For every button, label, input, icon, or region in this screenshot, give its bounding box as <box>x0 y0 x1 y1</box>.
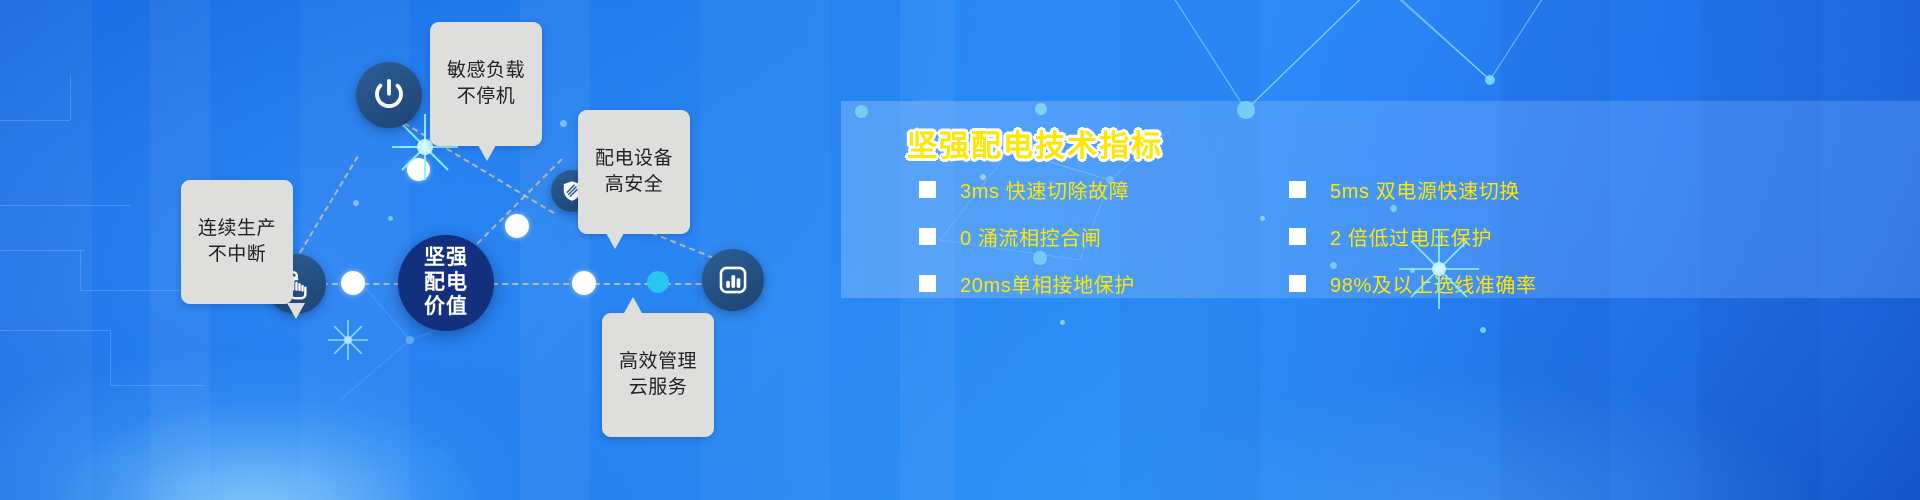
spec-text: 3ms 快速切除故障 <box>960 175 1129 204</box>
spec-list: 3ms 快速切除故障 5ms 双电源快速切换 0 涌流相控合闸 2 倍低过电压保… <box>919 175 1879 298</box>
diagram-junction-dot <box>647 271 669 293</box>
square-bullet-icon <box>1289 228 1306 245</box>
bubble-text: 敏感负载 不停机 <box>447 60 525 106</box>
bubble-continuous-production[interactable]: 连续生产 不中断 <box>181 180 293 304</box>
bubble-text: 连续生产 不中断 <box>198 218 276 264</box>
square-bullet-icon <box>919 181 936 198</box>
spec-item[interactable]: 20ms单相接地保护 <box>919 269 1289 298</box>
bubble-tail <box>287 303 305 319</box>
spec-text: 98%及以上选线准确率 <box>1330 269 1537 298</box>
panel-title: 坚强配电技术指标 <box>907 121 1163 165</box>
bubble-equipment-safety[interactable]: 配电设备 高安全 <box>578 110 690 234</box>
square-bullet-icon <box>919 228 936 245</box>
node-center-value: 坚强 配电 价值 <box>398 235 494 331</box>
bubble-tail <box>606 233 624 249</box>
tech-spec-panel: 坚强配电技术指标 3ms 快速切除故障 5ms 双电源快速切换 0 涌流相控合闸… <box>841 101 1920 298</box>
bubble-tail <box>624 297 642 313</box>
node-power-icon[interactable] <box>356 62 422 128</box>
bubble-cloud-service[interactable]: 高效管理 云服务 <box>602 313 714 437</box>
spec-item[interactable]: 0 涌流相控合闸 <box>919 222 1289 251</box>
diagram-edge <box>294 156 359 262</box>
center-label-line2: 配电 <box>424 271 468 296</box>
spec-item[interactable]: 2 倍低过电压保护 <box>1289 222 1659 251</box>
diagram-junction-dot <box>341 271 365 295</box>
bubble-text: 高效管理 云服务 <box>619 351 697 397</box>
diagram-junction-dot <box>572 271 596 295</box>
bubble-tail <box>478 145 496 161</box>
center-label-line1: 坚强 <box>424 246 468 271</box>
banner-stage: 坚强 配电 价值 敏感负载 不停机 配电设备 高安全 连续生产 不中断 高效管理… <box>0 0 1920 500</box>
diagram-edge <box>492 283 732 285</box>
bar-chart-icon <box>716 263 750 297</box>
center-label-line3: 价值 <box>424 295 468 320</box>
value-network-diagram: 坚强 配电 价值 敏感负载 不停机 配电设备 高安全 连续生产 不中断 高效管理… <box>0 0 840 500</box>
spec-text: 0 涌流相控合闸 <box>960 222 1101 251</box>
spec-item[interactable]: 5ms 双电源快速切换 <box>1289 175 1659 204</box>
bubble-text: 配电设备 高安全 <box>595 148 673 194</box>
diagram-junction-dot <box>407 158 430 181</box>
spec-text: 2 倍低过电压保护 <box>1330 222 1492 251</box>
square-bullet-icon <box>919 275 936 292</box>
square-bullet-icon <box>1289 275 1306 292</box>
power-icon <box>370 76 408 114</box>
spec-item[interactable]: 3ms 快速切除故障 <box>919 175 1289 204</box>
spec-text: 20ms单相接地保护 <box>960 269 1135 298</box>
diagram-junction-dot <box>505 214 529 238</box>
sparkle-icon <box>326 318 370 362</box>
bubble-sensitive-load[interactable]: 敏感负载 不停机 <box>430 22 542 146</box>
node-chart-icon[interactable] <box>702 249 764 311</box>
spec-text: 5ms 双电源快速切换 <box>1330 175 1520 204</box>
bg-glow-wave <box>1130 370 1830 500</box>
bg-dot <box>1480 327 1486 333</box>
spec-item[interactable]: 98%及以上选线准确率 <box>1289 269 1659 298</box>
bg-dot <box>1060 320 1065 325</box>
square-bullet-icon <box>1289 181 1306 198</box>
